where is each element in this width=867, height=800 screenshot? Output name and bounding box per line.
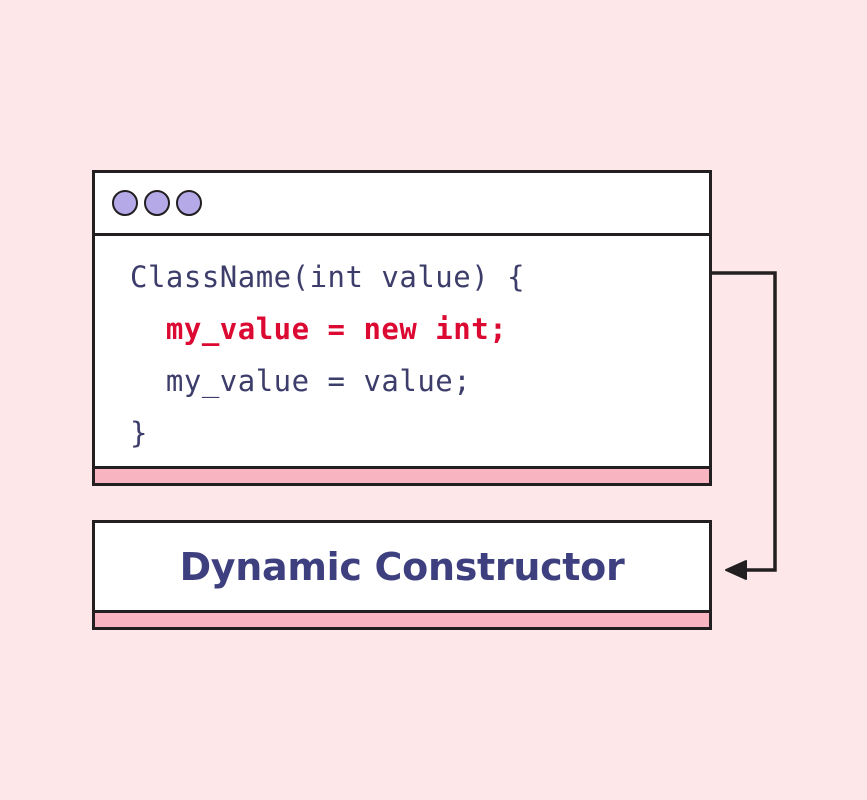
window-dot-2-icon[interactable] xyxy=(144,190,170,216)
window-dot-3-icon[interactable] xyxy=(176,190,202,216)
page-title: Dynamic Constructor xyxy=(180,545,625,589)
window-dot-1-icon[interactable] xyxy=(112,190,138,216)
code-window-titlebar xyxy=(95,173,709,236)
diagram-canvas: ClassName(int value) { my_value = new in… xyxy=(0,0,867,800)
code-window: ClassName(int value) { my_value = new in… xyxy=(92,170,712,486)
code-editor-area: ClassName(int value) { my_value = new in… xyxy=(95,236,709,466)
label-box-accent-bar xyxy=(92,613,712,630)
label-box: Dynamic Constructor xyxy=(92,520,712,630)
code-window-frame: ClassName(int value) { my_value = new in… xyxy=(92,170,712,469)
label-box-frame: Dynamic Constructor xyxy=(92,520,712,613)
code-line-4: } xyxy=(130,407,709,459)
code-window-accent-bar xyxy=(92,469,712,486)
code-line-3: my_value = value; xyxy=(130,355,709,407)
code-line-1: ClassName(int value) { xyxy=(130,251,709,303)
connector-arrowhead xyxy=(726,561,746,579)
code-line-2: my_value = new int; xyxy=(130,303,709,355)
